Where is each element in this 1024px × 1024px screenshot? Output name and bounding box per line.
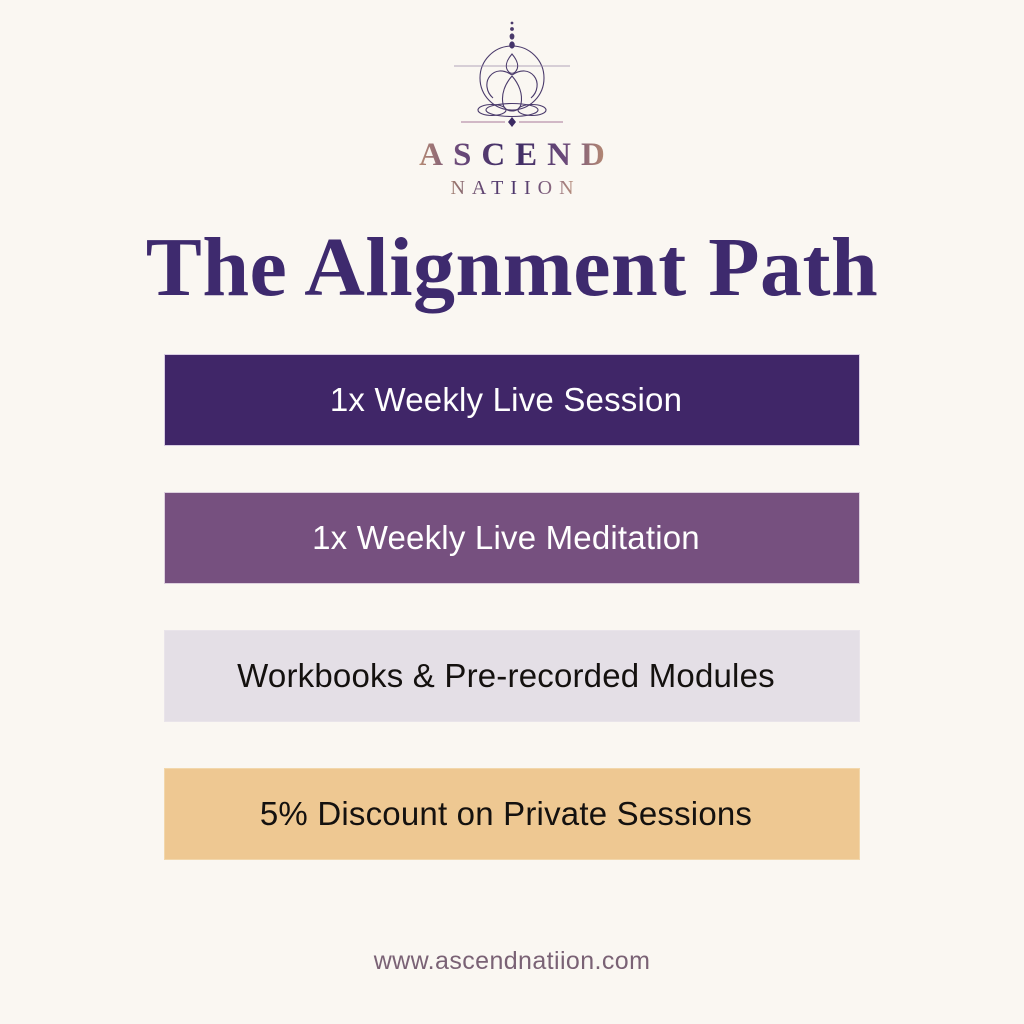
benefit-label-1: 1x Weekly Live Session xyxy=(330,381,682,419)
footer-website-url[interactable]: www.ascendnatiion.com xyxy=(0,947,1024,976)
benefit-row-2: 1x Weekly Live Meditation xyxy=(164,492,860,584)
benefit-label-3: Workbooks & Pre-recorded Modules xyxy=(237,657,775,695)
benefit-label-4: 5% Discount on Private Sessions xyxy=(260,795,752,833)
benefits-list: 1x Weekly Live Session 1x Weekly Live Me… xyxy=(164,354,860,860)
brand-tagline: NATIION xyxy=(443,177,580,200)
benefit-row-1: 1x Weekly Live Session xyxy=(164,354,860,446)
benefit-label-2: 1x Weekly Live Meditation xyxy=(312,519,700,557)
lotus-meditation-figure-icon xyxy=(427,18,597,136)
brand-name: ASCEND xyxy=(409,138,615,173)
page-title: The Alignment Path xyxy=(146,226,878,310)
benefit-row-3: Workbooks & Pre-recorded Modules xyxy=(164,630,860,722)
brand-logo: ASCEND NATIION xyxy=(382,18,642,200)
poster-canvas: ASCEND NATIION The Alignment Path 1x Wee… xyxy=(0,0,1024,1024)
benefit-row-4: 5% Discount on Private Sessions xyxy=(164,768,860,860)
